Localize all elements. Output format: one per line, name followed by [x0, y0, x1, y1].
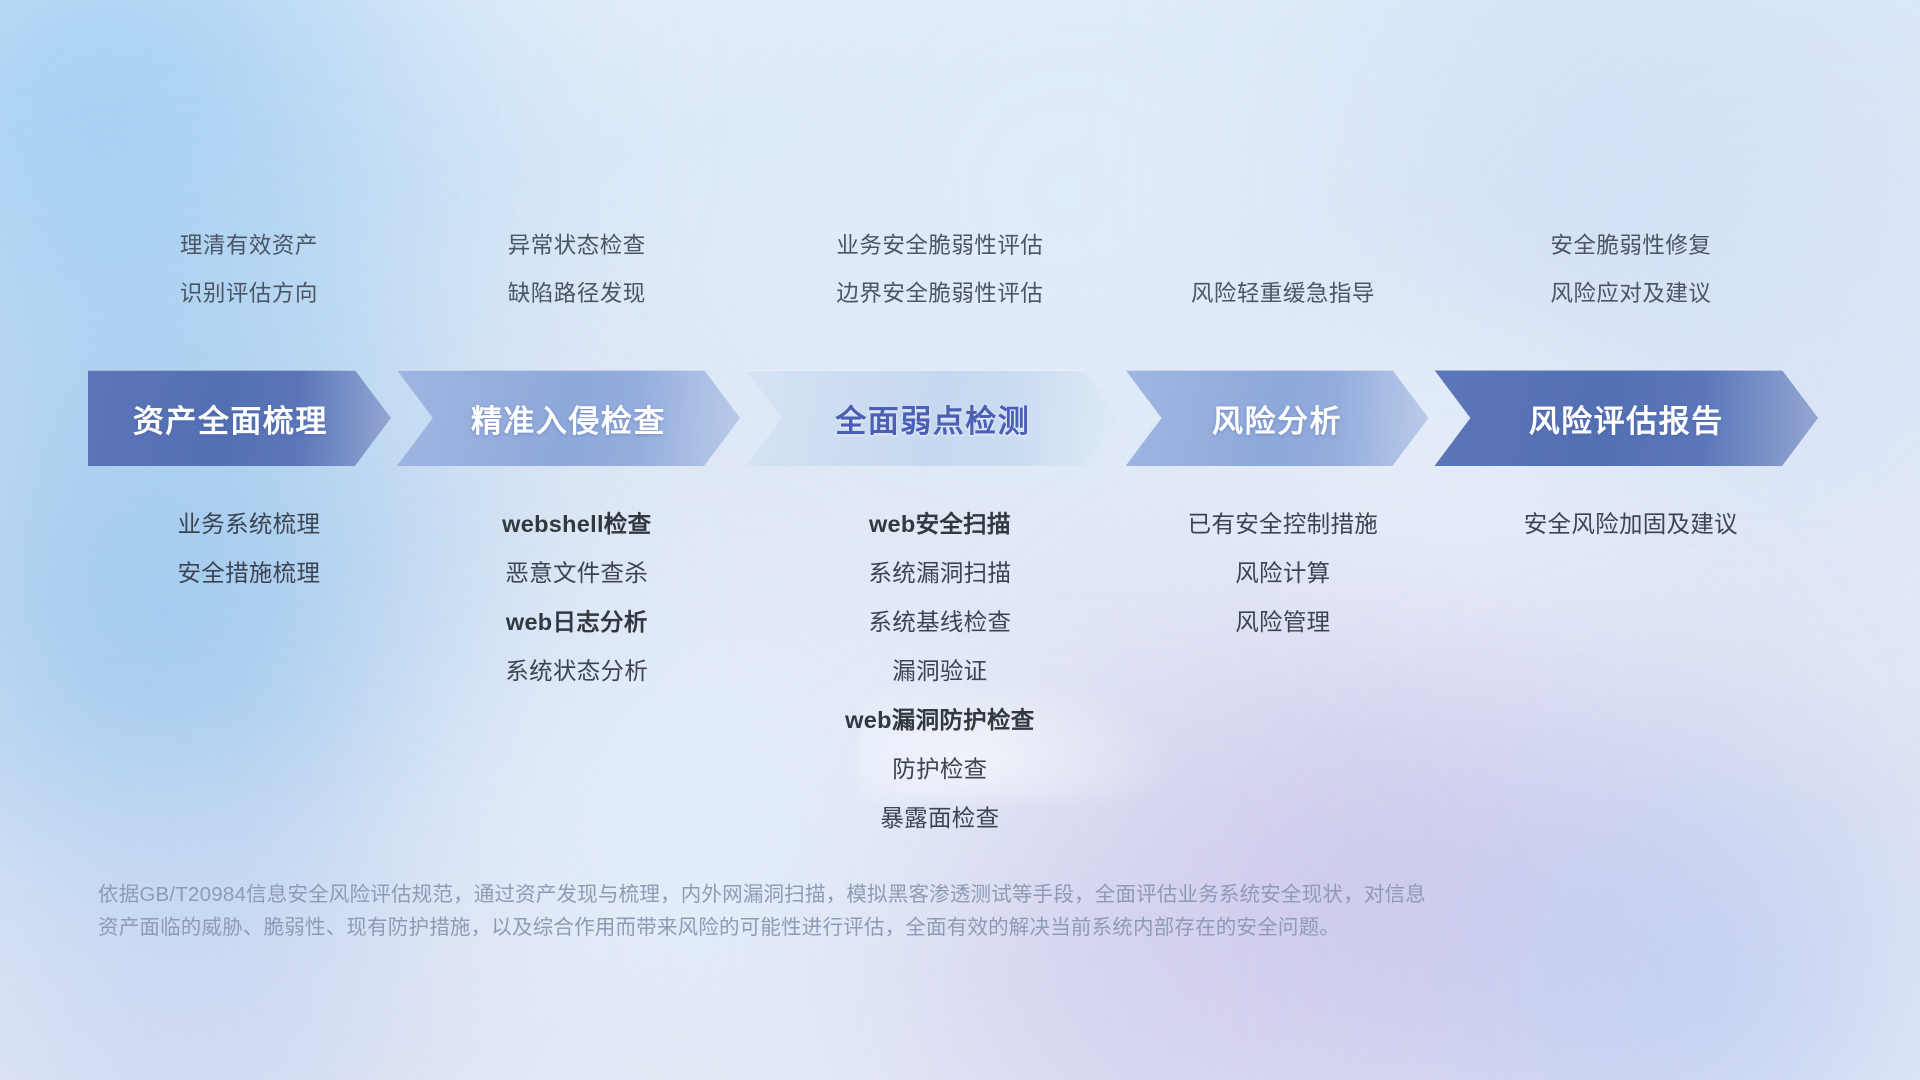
- stage-title: 风险评估报告: [1529, 396, 1724, 441]
- outcome-text: 缺陷路径发现: [508, 270, 646, 318]
- task-item: web漏洞防护检查: [845, 696, 1034, 745]
- task-item: 系统基线检查: [868, 598, 1011, 647]
- stage-title: 精准入侵检查: [471, 396, 666, 441]
- process-diagram: 理清有效资产识别评估方向异常状态检查缺陷路径发现业务安全脆弱性评估边界安全脆弱性…: [0, 0, 1920, 1080]
- task-item: web日志分析: [506, 598, 648, 647]
- stage-outcomes-weakness-detection: 业务安全脆弱性评估边界安全脆弱性评估: [751, 222, 1129, 332]
- stage-tasks-weakness-detection: web安全扫描系统漏洞扫描系统基线检查漏洞验证web漏洞防护检查防护检查暴露面检…: [751, 500, 1129, 843]
- outcome-text: 风险轻重缓急指导: [1191, 270, 1375, 318]
- description-line-1: 依据GB/T20984信息安全风险评估规范，通过资产发现与梳理，内外网漏洞扫描，…: [98, 878, 1738, 911]
- stage-arrow-asset-inventory[interactable]: 资产全面梳理: [88, 370, 391, 466]
- task-item: 已有安全控制措施: [1188, 500, 1378, 549]
- task-item: 风险计算: [1235, 549, 1330, 598]
- stage-arrow-weakness-detection[interactable]: 全面弱点检测: [746, 370, 1120, 466]
- task-item: 安全风险加固及建议: [1524, 500, 1738, 549]
- stage-tasks-risk-report: 安全风险加固及建议: [1437, 500, 1825, 843]
- outcome-text: 识别评估方向: [180, 270, 318, 318]
- stage-outcomes-risk-report: 安全脆弱性修复风险应对及建议: [1437, 222, 1825, 332]
- stage-outcomes-intrusion-check: 异常状态检查缺陷路径发现: [403, 222, 751, 332]
- stage-arrow-risk-analysis[interactable]: 风险分析: [1126, 370, 1429, 466]
- outcome-text: 安全脆弱性修复: [1550, 222, 1711, 270]
- task-item: 风险管理: [1235, 598, 1330, 647]
- stage-tasks-row: 业务系统梳理安全措施梳理webshell检查恶意文件查杀web日志分析系统状态分…: [95, 500, 1825, 843]
- stage-outcomes-risk-analysis: 风险轻重缓急指导: [1129, 222, 1437, 332]
- task-item: web安全扫描: [869, 500, 1011, 549]
- task-item: 漏洞验证: [892, 647, 987, 696]
- description-line-2: 资产面临的威胁、脆弱性、现有防护措施，以及综合作用而带来风险的可能性进行评估，全…: [98, 911, 1738, 944]
- task-item: 恶意文件查杀: [505, 549, 648, 598]
- stage-outcomes-row: 理清有效资产识别评估方向异常状态检查缺陷路径发现业务安全脆弱性评估边界安全脆弱性…: [95, 222, 1825, 332]
- stage-arrow-band: 资产全面梳理精准入侵检查全面弱点检测风险分析风险评估报告: [88, 370, 1818, 466]
- outcome-text: 边界安全脆弱性评估: [836, 270, 1043, 318]
- description-paragraph: 依据GB/T20984信息安全风险评估规范，通过资产发现与梳理，内外网漏洞扫描，…: [98, 878, 1738, 944]
- task-item: 防护检查: [892, 745, 987, 794]
- outcome-text: 风险应对及建议: [1550, 270, 1711, 318]
- stage-arrow-risk-report[interactable]: 风险评估报告: [1434, 370, 1818, 466]
- task-item: webshell检查: [502, 500, 651, 549]
- task-item: 暴露面检查: [880, 794, 999, 843]
- task-item: 业务系统梳理: [177, 500, 320, 549]
- outcome-text: 业务安全脆弱性评估: [836, 222, 1043, 270]
- task-item: 安全措施梳理: [177, 549, 320, 598]
- stage-title: 风险分析: [1212, 396, 1342, 441]
- stage-outcomes-asset-inventory: 理清有效资产识别评估方向: [95, 222, 403, 332]
- stage-arrow-intrusion-check[interactable]: 精准入侵检查: [397, 370, 740, 466]
- stage-title: 全面弱点检测: [835, 396, 1030, 441]
- stage-title: 资产全面梳理: [133, 396, 328, 441]
- task-item: 系统漏洞扫描: [868, 549, 1011, 598]
- outcome-text: 异常状态检查: [508, 222, 646, 270]
- stage-tasks-risk-analysis: 已有安全控制措施风险计算风险管理: [1129, 500, 1437, 843]
- stage-tasks-asset-inventory: 业务系统梳理安全措施梳理: [95, 500, 403, 843]
- stage-tasks-intrusion-check: webshell检查恶意文件查杀web日志分析系统状态分析: [403, 500, 751, 843]
- task-item: 系统状态分析: [505, 647, 648, 696]
- outcome-text: 理清有效资产: [180, 222, 318, 270]
